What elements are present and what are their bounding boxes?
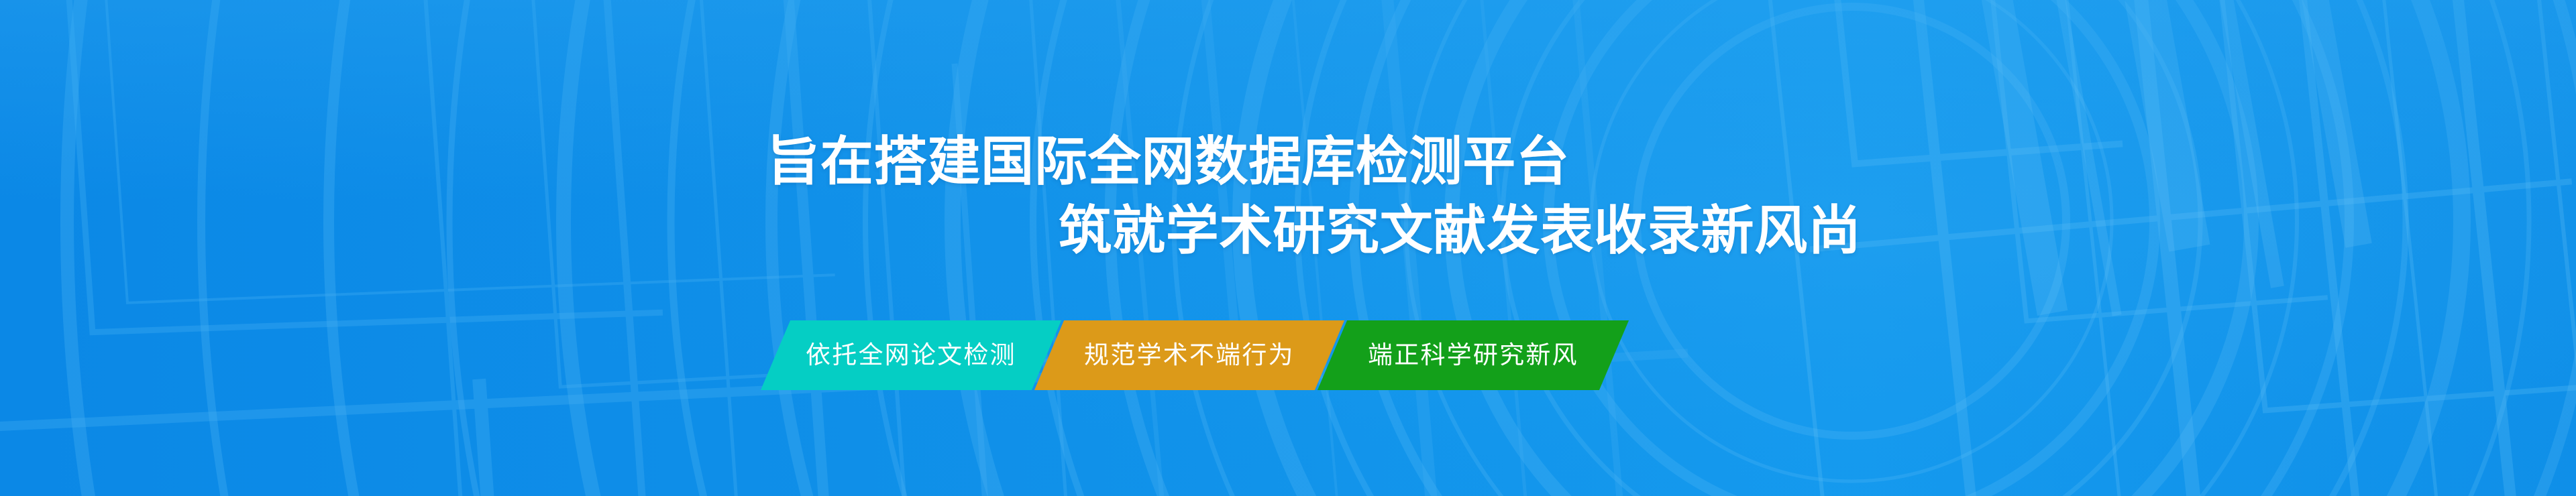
badge-gui-fan-xue-shu-bu-duan[interactable]: 规范学术不端行为	[1034, 320, 1344, 390]
headline-block: 旨在搭建国际全网数据库检测平台 筑就学术研究文献发表收录新风尚	[0, 0, 2576, 496]
badge-label: 端正科学研究新风	[1368, 320, 1578, 390]
badge-quan-wang-lun-wen-jian-ce[interactable]: 依托全网论文检测	[761, 320, 1061, 390]
badge-duan-zheng-ke-xue-yan-jiu[interactable]: 端正科学研究新风	[1318, 320, 1629, 390]
hero-banner: 旨在搭建国际全网数据库检测平台 筑就学术研究文献发表收录新风尚 依托全网论文检测…	[0, 0, 2576, 496]
headline-line-1: 旨在搭建国际全网数据库检测平台	[767, 129, 1570, 194]
headline-line-2: 筑就学术研究文献发表收录新风尚	[1059, 198, 1862, 263]
feature-badge-group: 依托全网论文检测 规范学术不端行为 端正科学研究新风	[775, 320, 1614, 390]
badge-label: 规范学术不端行为	[1084, 320, 1295, 390]
badge-label: 依托全网论文检测	[806, 320, 1016, 390]
